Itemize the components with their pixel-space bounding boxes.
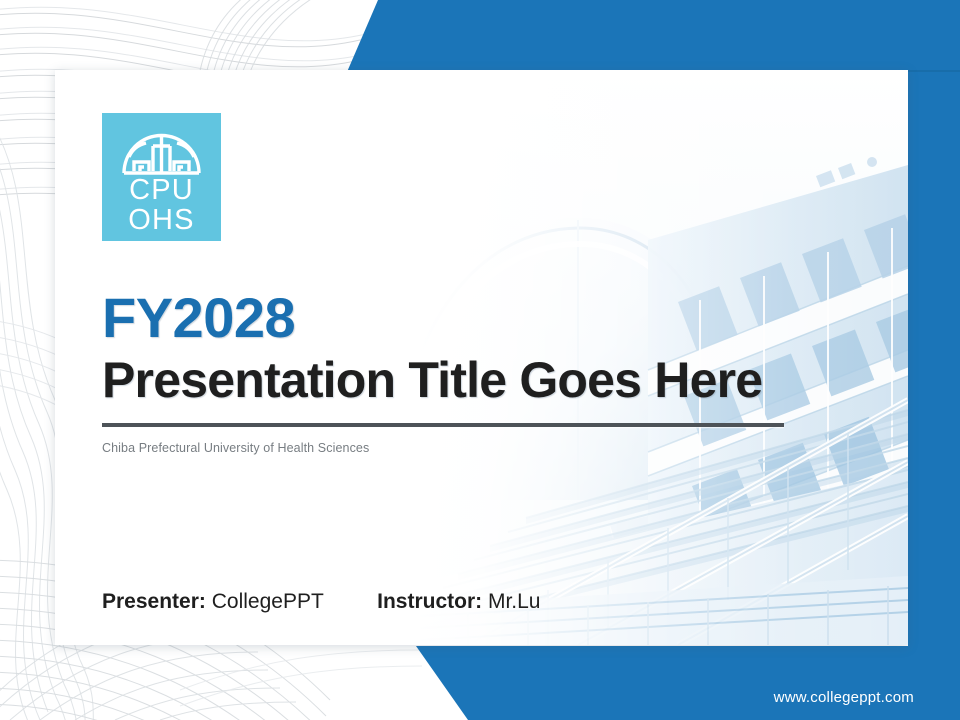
- title-text-block: FY2028 Presentation Title Goes Here Chib…: [102, 290, 842, 455]
- logo-text-cpu: CPU: [129, 174, 194, 206]
- cpu-ohs-university-logo: CPU OHS: [102, 113, 221, 241]
- title-slide: CPU OHS FY2028 Presentation Title Goes H…: [0, 0, 960, 720]
- instructor-name: Mr.Lu: [488, 590, 541, 613]
- institution-subtitle: Chiba Prefectural University of Health S…: [102, 441, 842, 455]
- footer-website-url[interactable]: www.collegeppt.com: [774, 689, 914, 706]
- presenter-name: CollegePPT: [212, 590, 324, 613]
- page-title: Presentation Title Goes Here: [102, 354, 842, 407]
- slide-card: CPU OHS FY2028 Presentation Title Goes H…: [55, 70, 908, 645]
- credits-row: Presenter: CollegePPT Instructor: Mr.Lu: [102, 590, 540, 614]
- title-divider-rule: [102, 423, 784, 427]
- fiscal-year-heading: FY2028: [102, 290, 842, 346]
- instructor-label: Instructor:: [377, 590, 482, 613]
- logo-text-ohs: OHS: [128, 204, 194, 236]
- presenter-label: Presenter:: [102, 590, 206, 613]
